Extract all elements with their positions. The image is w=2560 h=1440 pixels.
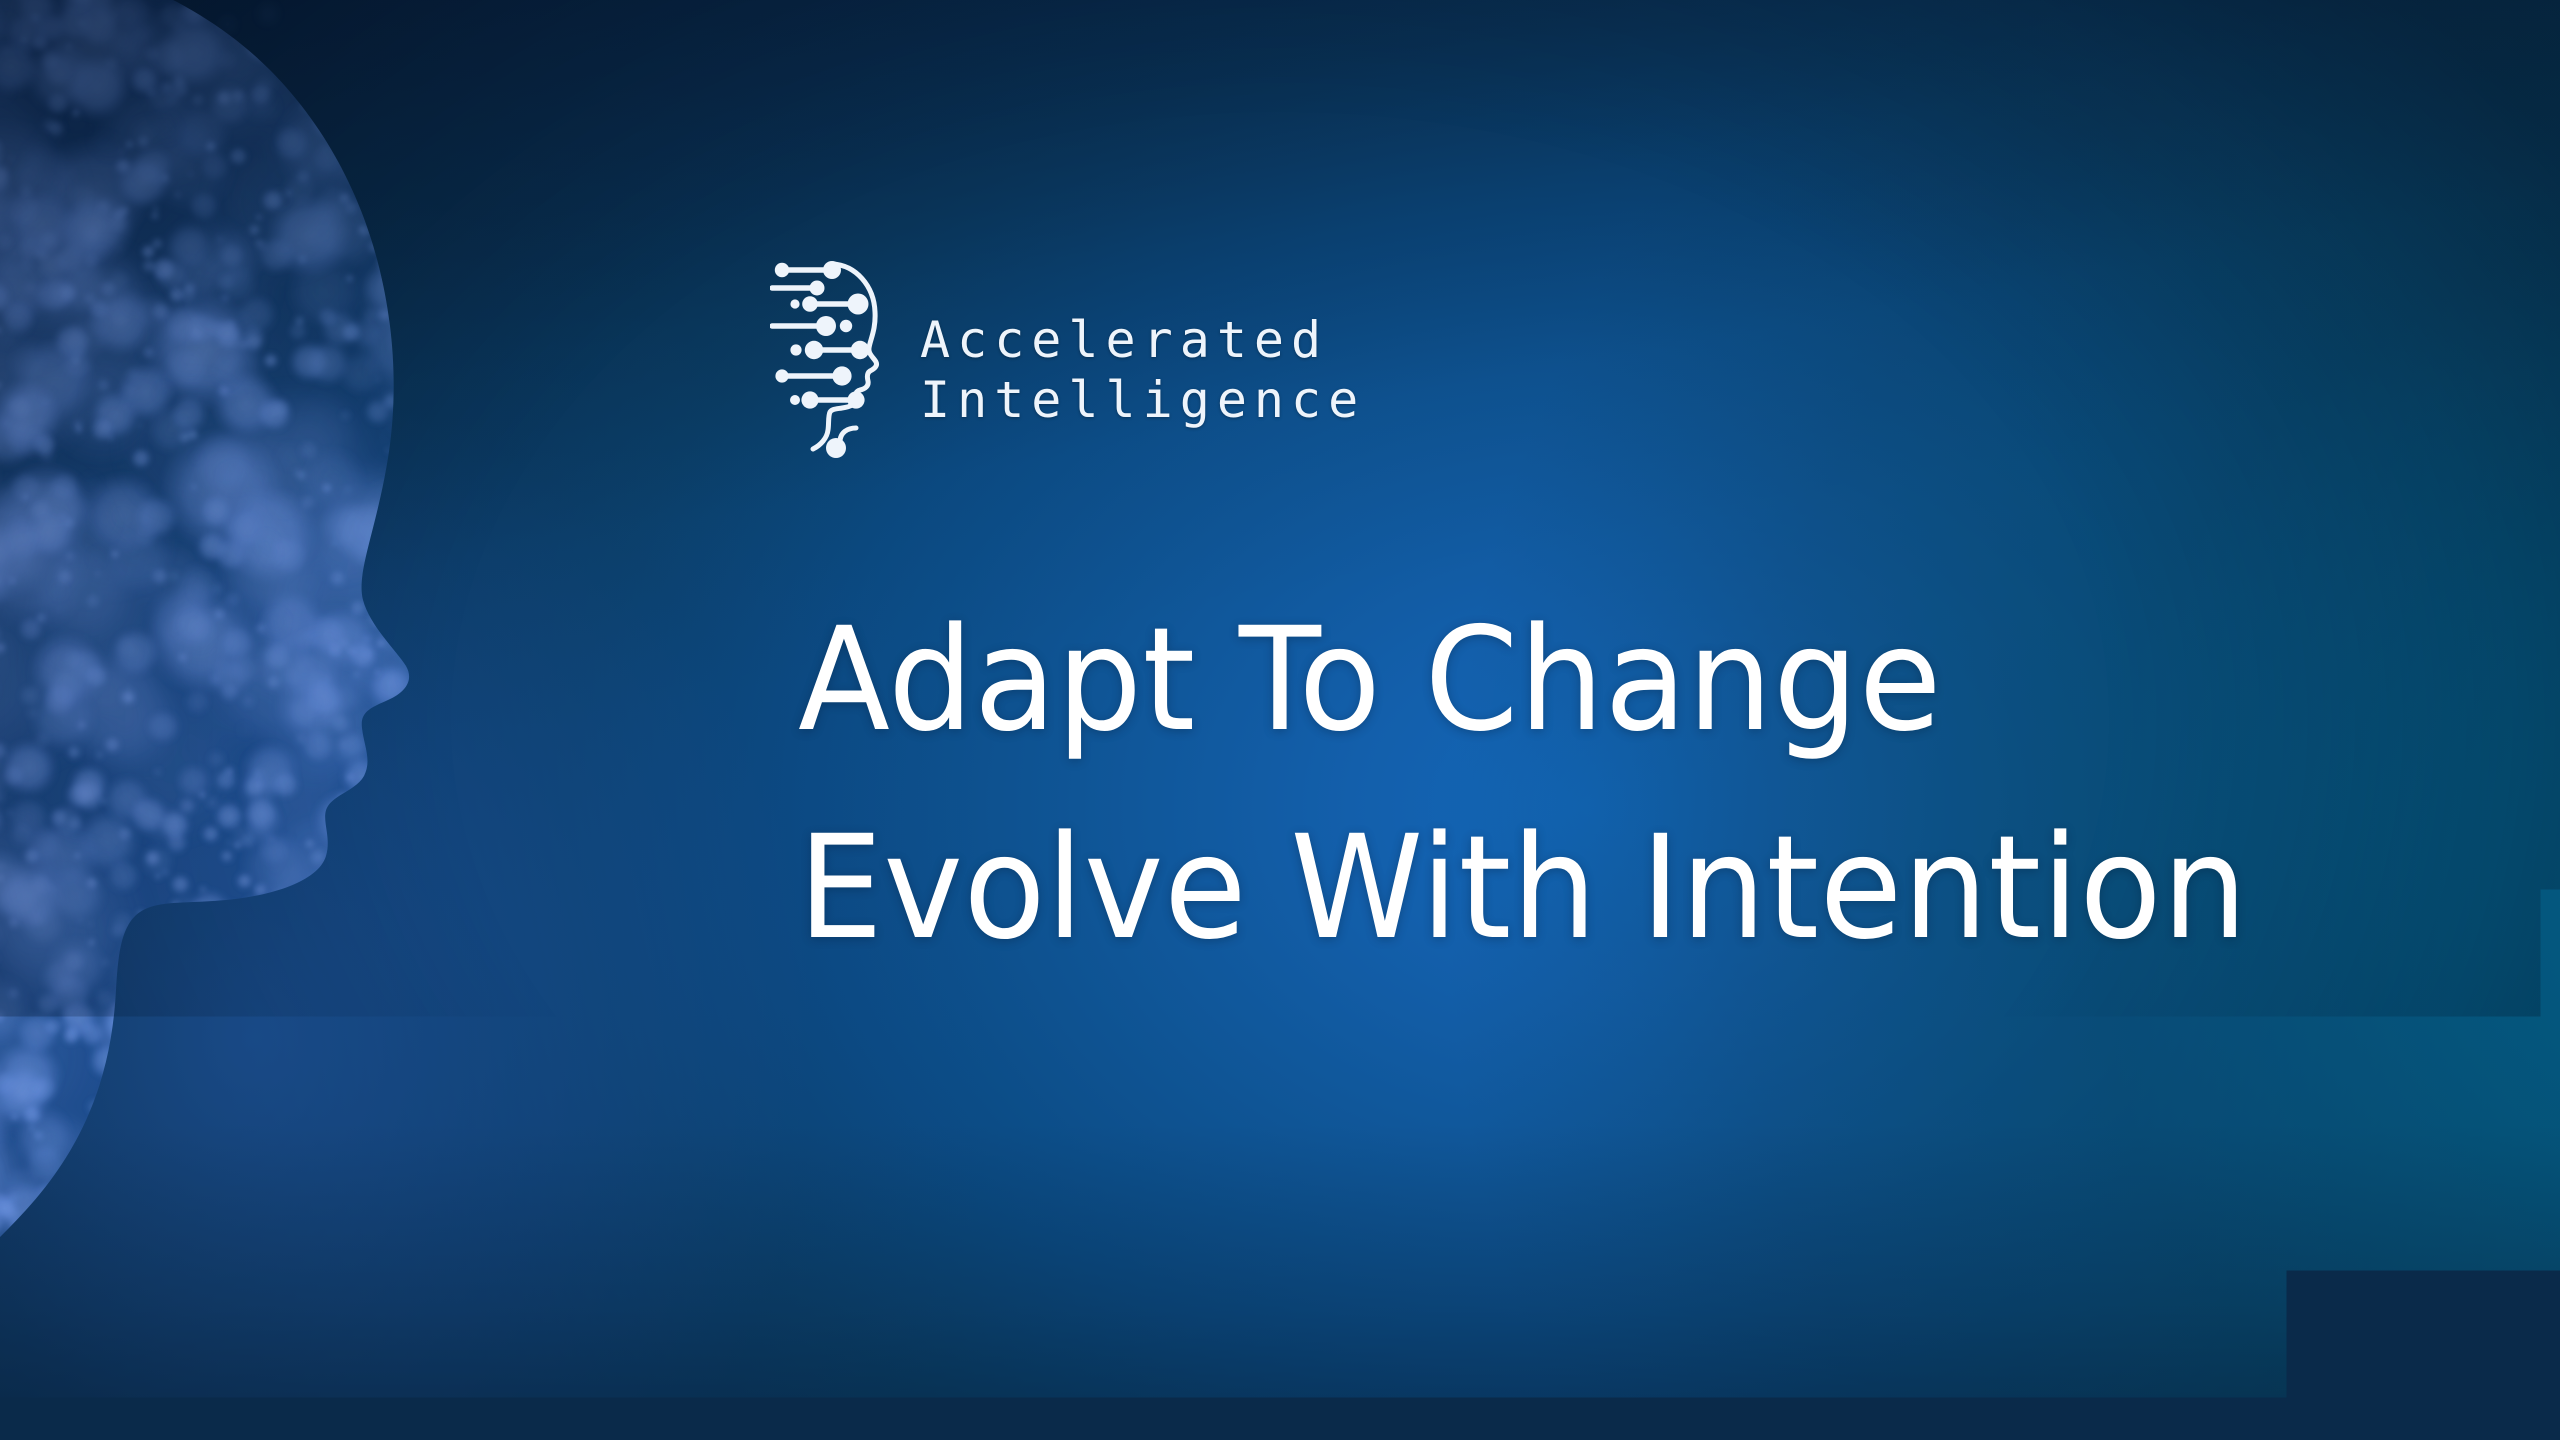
headline-block: Adapt To Change Evolve With Intention Cr… bbox=[798, 576, 2358, 1200]
headline-line-3: Create What’s Next bbox=[798, 992, 2264, 1200]
hero-slide: Accelerated Intelligence Adapt To Change… bbox=[0, 0, 2560, 1440]
headline-line-2: Evolve With Intention bbox=[798, 784, 2264, 992]
brand-name-line-2: Intelligence bbox=[920, 375, 1365, 425]
brand-wordmark: Accelerated Intelligence bbox=[920, 293, 1365, 425]
circuit-head-profile-icon bbox=[770, 246, 894, 472]
brand-name-line-1: Accelerated bbox=[920, 315, 1365, 365]
brand-logo[interactable]: Accelerated Intelligence bbox=[770, 246, 1365, 472]
headline-line-1: Adapt To Change bbox=[798, 576, 2264, 784]
